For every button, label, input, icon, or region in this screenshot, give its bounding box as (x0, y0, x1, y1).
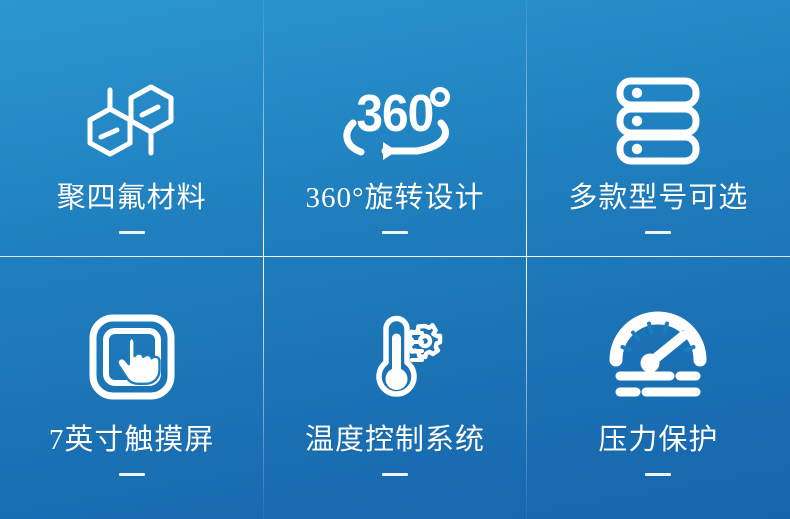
pressure-gauge-icon (610, 298, 706, 416)
360-rotation-icon: 360 (337, 62, 453, 180)
touchscreen-hand-icon (88, 298, 176, 416)
server-rack-icon (612, 62, 704, 180)
feature-card-rotation-design[interactable]: 360 360°旋转设计 (263, 0, 526, 260)
feature-card-model-options[interactable]: 多款型号可选 (527, 0, 790, 260)
feature-label: 压力保护 (598, 426, 718, 455)
feature-underline (382, 231, 408, 234)
grid-divider-vertical-left (263, 0, 264, 519)
hexagon-molecule-icon (76, 62, 188, 180)
feature-card-temperature-control[interactable]: 温度控制系统 (263, 260, 526, 519)
feature-label: 温度控制系统 (305, 426, 485, 455)
feature-label: 360°旋转设计 (305, 184, 484, 213)
grid-divider-horizontal (0, 256, 790, 257)
svg-text:360: 360 (356, 84, 433, 142)
feature-label: 多款型号可选 (568, 184, 748, 213)
feature-underline (119, 473, 145, 476)
feature-card-ptfe-material[interactable]: 聚四氟材料 (0, 0, 263, 260)
feature-underline (645, 473, 671, 476)
feature-grid-banner: 聚四氟材料 360 360°旋转设计 (0, 0, 790, 519)
feature-underline (119, 231, 145, 234)
feature-underline (645, 231, 671, 234)
grid-divider-vertical-right (526, 0, 527, 519)
thermometer-gear-icon (347, 298, 443, 416)
feature-underline (382, 473, 408, 476)
feature-card-touchscreen[interactable]: 7英寸触摸屏 (0, 260, 263, 519)
feature-grid: 聚四氟材料 360 360°旋转设计 (0, 0, 790, 519)
feature-label: 7英寸触摸屏 (49, 426, 215, 455)
feature-card-pressure-protection[interactable]: 压力保护 (527, 260, 790, 519)
feature-label: 聚四氟材料 (57, 184, 207, 213)
